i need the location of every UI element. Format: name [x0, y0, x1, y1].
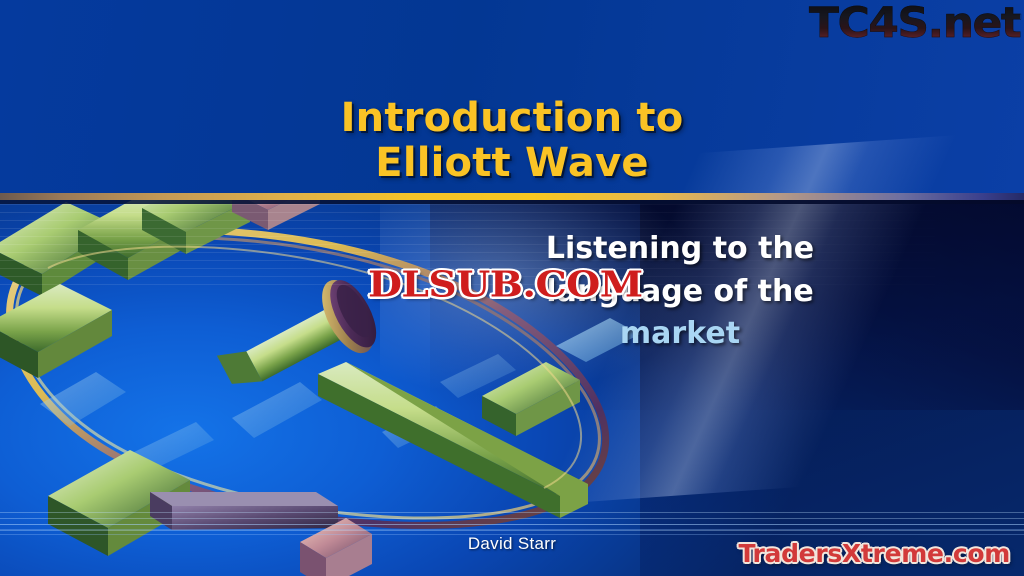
presentation-title-slide: Introduction to Elliott Wave Listening t…	[0, 0, 1024, 576]
subtitle-line-3: market	[620, 316, 740, 351]
slide-title: Introduction to Elliott Wave	[0, 96, 1024, 186]
gold-divider-line	[0, 193, 1024, 200]
tradersxtreme-watermark: TradersXtreme.com	[738, 539, 1010, 568]
tc4s-watermark: TC4S.net	[809, 0, 1020, 47]
dlsub-watermark: DLSUB.COM	[368, 264, 643, 306]
gold-divider-shadow	[0, 200, 1024, 204]
title-line-1: Introduction to	[341, 95, 684, 141]
title-line-2: Elliott Wave	[0, 141, 1024, 186]
subtitle-line-1: Listening to the	[546, 231, 814, 266]
